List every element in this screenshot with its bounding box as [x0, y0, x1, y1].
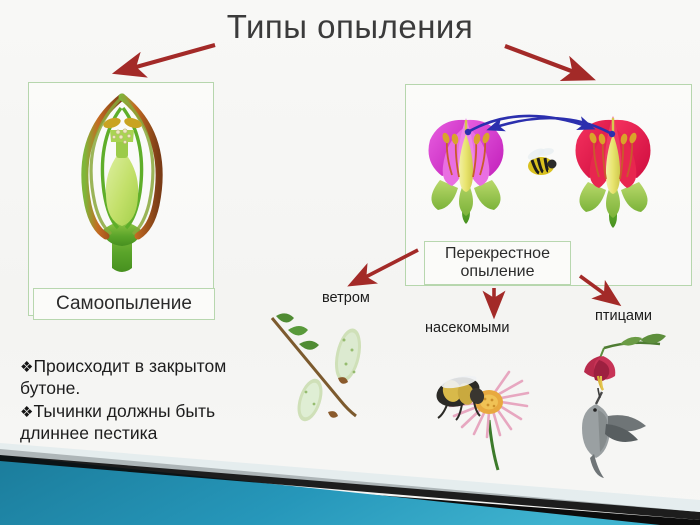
title-arrow-right	[505, 46, 590, 78]
label-pollination-by-insects: насекомыми	[425, 320, 509, 336]
page-title: Типы опыления	[0, 8, 700, 46]
hummingbird-at-fuchsia	[582, 334, 666, 478]
self-pollination-caption: Самоопыление	[33, 288, 215, 320]
label-pollination-by-wind: ветром	[322, 290, 370, 306]
slide-canvas: Типы опыления	[0, 0, 700, 525]
self-pollination-bullet-list: ❖Происходит в закрытом бутоне. ❖Тычинки …	[20, 355, 270, 445]
bullet-text: Происходит в закрытом бутоне.	[20, 356, 226, 398]
cross-pollination-caption: Перекрестное опыление	[424, 241, 571, 285]
self-pollination-panel	[28, 82, 214, 316]
label-pollination-by-birds: птицами	[595, 308, 652, 324]
bullet-marker-icon: ❖	[20, 404, 33, 421]
list-item: ❖Происходит в закрытом бутоне.	[20, 355, 270, 400]
title-arrow-left	[118, 45, 215, 72]
willow-catkin-branch	[272, 313, 365, 424]
bumblebee-on-daisy	[433, 372, 528, 470]
decorative-band	[0, 443, 700, 525]
list-item: ❖Тычинки должны быть длиннее пестика	[20, 400, 270, 445]
bullet-text: Тычинки должны быть длиннее пестика	[20, 401, 215, 443]
bullet-marker-icon: ❖	[20, 359, 33, 376]
